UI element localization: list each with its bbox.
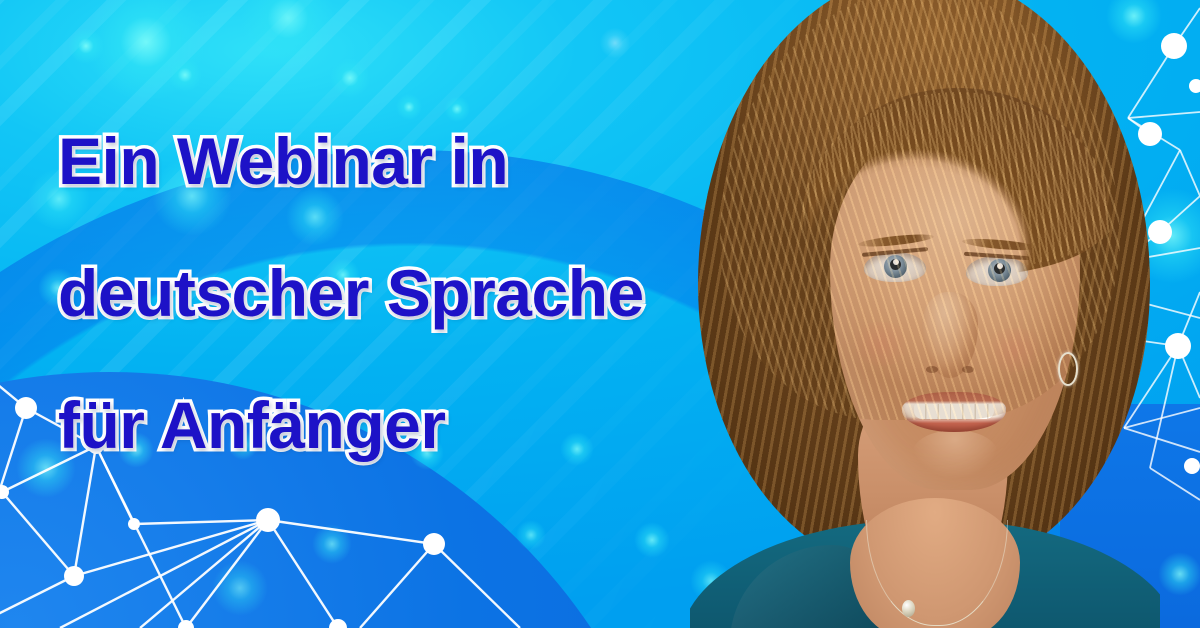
network-node <box>1189 79 1200 93</box>
headline-line-1: Ein Webinar in <box>58 128 778 194</box>
network-node <box>1165 333 1191 359</box>
chin-highlight <box>912 430 998 478</box>
headline-line-3: für Anfänger <box>58 392 778 458</box>
headline-block: Ein Webinar in deutscher Sprache für Anf… <box>58 128 778 458</box>
network-node <box>1161 33 1187 59</box>
hoop-earring <box>1058 352 1078 386</box>
webinar-promo-banner: Ein Webinar in deutscher Sprache für Anf… <box>0 0 1200 628</box>
necklace-pendant <box>902 600 915 617</box>
network-node <box>1184 458 1200 474</box>
network-edge <box>1180 150 1200 196</box>
headline-line-2: deutscher Sprache <box>58 260 778 326</box>
